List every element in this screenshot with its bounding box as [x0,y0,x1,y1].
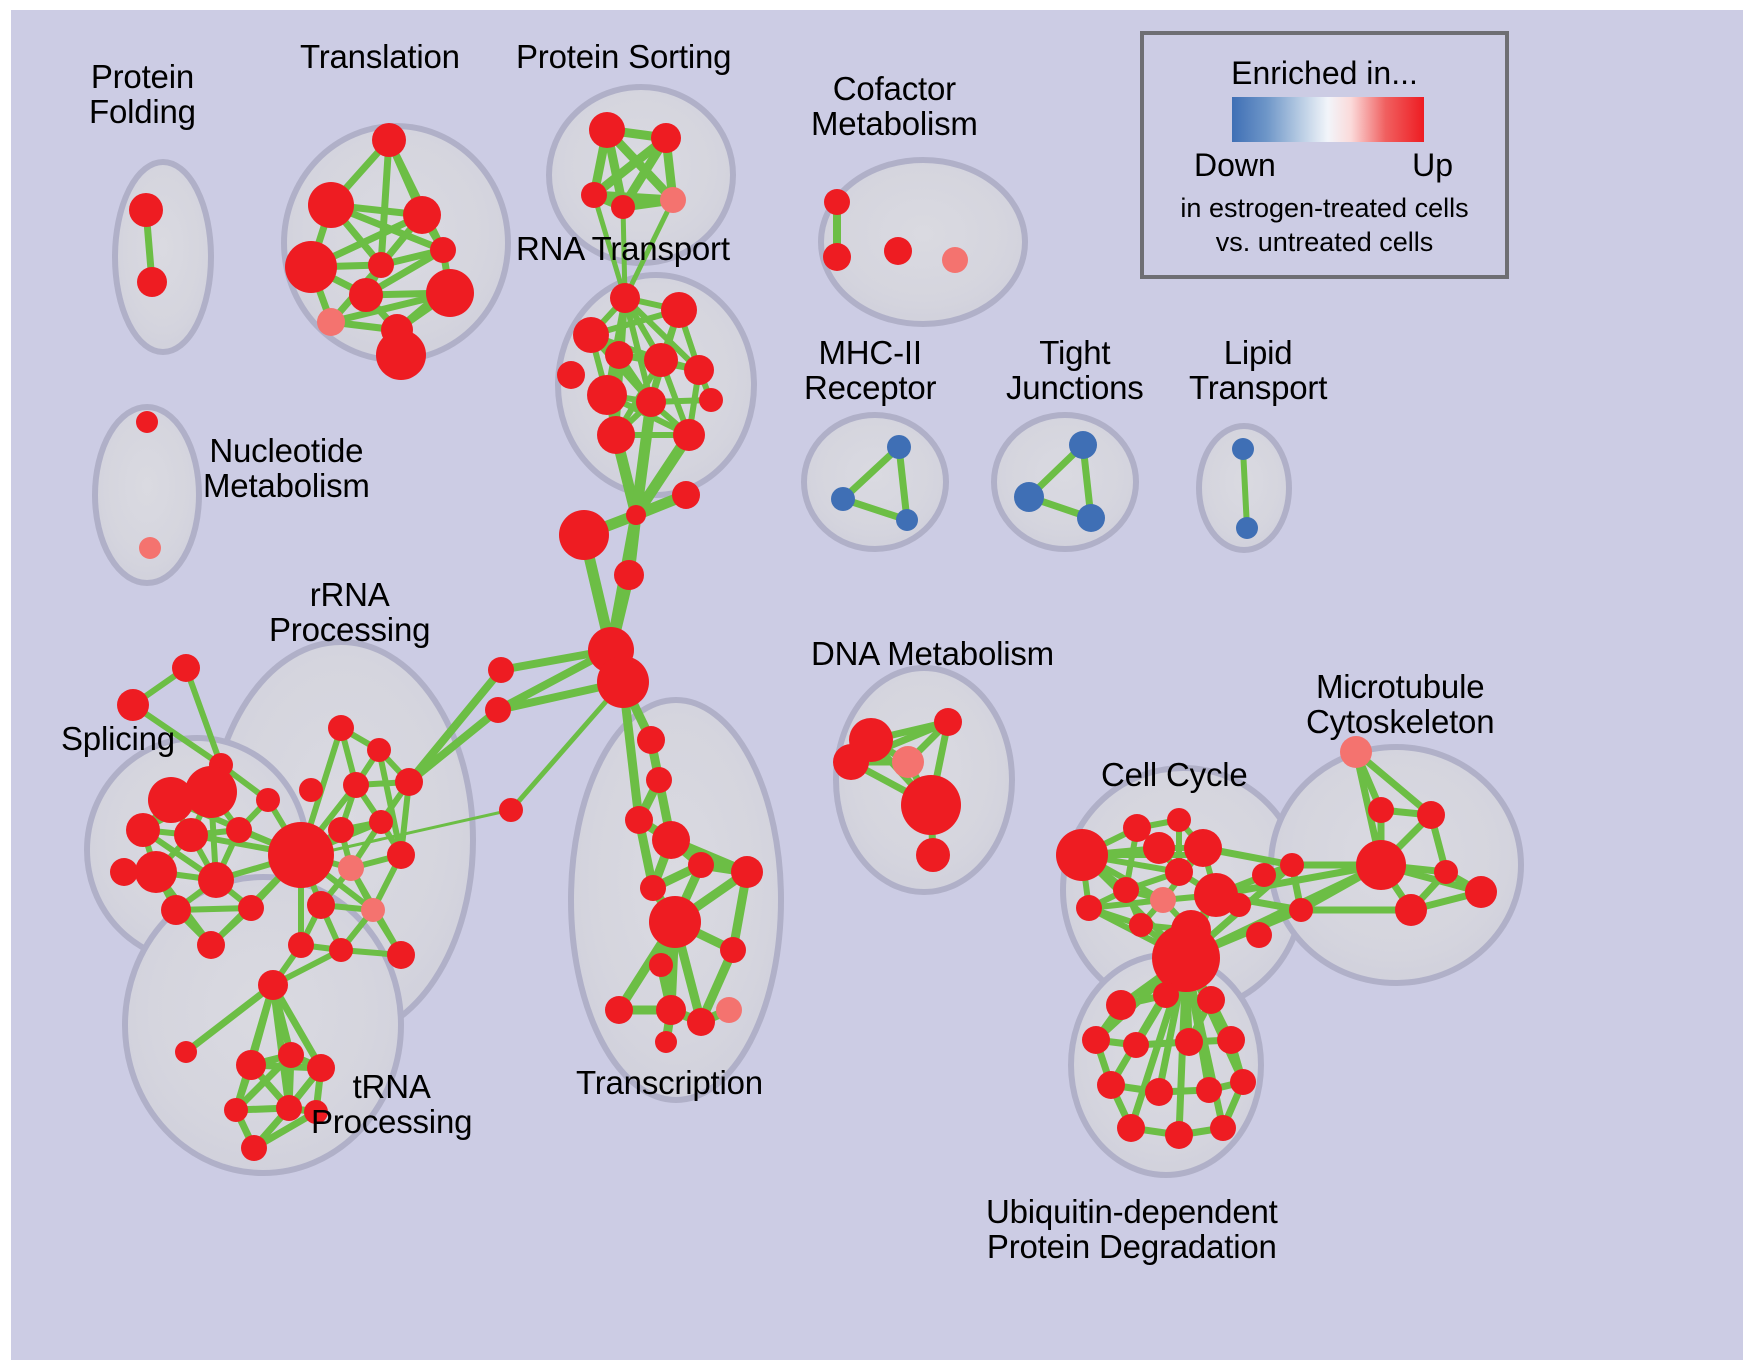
network-node[interactable] [716,997,742,1023]
network-node[interactable] [656,995,686,1025]
network-node[interactable] [198,862,234,898]
network-node[interactable] [1246,922,1272,948]
network-node[interactable] [644,343,678,377]
network-node[interactable] [376,330,426,380]
network-node[interactable] [299,778,323,802]
cluster-hull-mhc-ii-receptor [804,415,946,549]
network-node[interactable] [369,810,393,834]
network-node[interactable] [1106,990,1136,1020]
network-node[interactable] [174,818,208,852]
network-node[interactable] [361,898,385,922]
network-node[interactable] [328,715,354,741]
network-node[interactable] [129,193,163,227]
network-node[interactable] [687,1008,715,1036]
network-node[interactable] [328,817,354,843]
network-node[interactable] [387,941,415,969]
network-node[interactable] [823,243,851,271]
network-node[interactable] [403,196,441,234]
network-node[interactable] [1076,895,1102,921]
network-node[interactable] [649,896,701,948]
network-node[interactable] [896,509,918,531]
legend-subtitle-line2: vs. untreated cells [1144,227,1505,258]
legend-color-gradient-bar [1232,97,1424,142]
network-node[interactable] [1097,1071,1125,1099]
network-node[interactable] [651,123,681,153]
network-node[interactable] [614,560,644,590]
network-node[interactable] [587,375,627,415]
network-node[interactable] [1150,887,1176,913]
network-node[interactable] [278,1042,304,1068]
network-node[interactable] [1077,504,1105,532]
network-node[interactable] [688,852,714,878]
network-node[interactable] [1227,893,1251,917]
network-node[interactable] [1117,1114,1145,1142]
network-node[interactable] [824,189,850,215]
network-node[interactable] [307,891,335,919]
legend-title: Enriched in... [1144,55,1505,92]
network-node[interactable] [672,481,700,509]
network-node[interactable] [1465,876,1497,908]
network-node[interactable] [1232,438,1254,460]
network-node[interactable] [916,838,950,872]
network-node[interactable] [110,858,138,886]
network-node[interactable] [236,1050,266,1080]
network-node[interactable] [1368,797,1394,823]
network-node[interactable] [833,744,869,780]
network-node[interactable] [1014,482,1044,512]
network-node[interactable] [349,278,383,312]
legend-low-label: Down [1194,147,1276,184]
network-node[interactable] [197,931,225,959]
network-node[interactable] [573,317,609,353]
network-node[interactable] [1143,832,1175,864]
network-node[interactable] [343,772,369,798]
network-node[interactable] [640,875,666,901]
network-node[interactable] [1289,898,1313,922]
network-node[interactable] [1153,982,1179,1008]
network-node[interactable] [304,1100,328,1124]
network-node[interactable] [1145,1078,1173,1106]
network-node[interactable] [1165,1121,1193,1149]
network-node[interactable] [892,746,924,778]
network-node[interactable] [655,1031,677,1053]
cluster-hull-cofactor-metabolism [821,160,1025,324]
network-node[interactable] [589,112,625,148]
network-node[interactable] [1196,1077,1222,1103]
network-node[interactable] [137,267,167,297]
legend-subtitle-line1: in estrogen-treated cells [1144,193,1505,224]
network-node[interactable] [430,237,456,263]
network-node[interactable] [1129,913,1153,937]
network-node[interactable] [699,388,723,412]
network-node[interactable] [720,937,746,963]
network-node[interactable] [684,355,714,385]
network-node[interactable] [367,738,391,762]
network-node[interactable] [499,798,523,822]
network-node[interactable] [661,292,697,328]
network-node[interactable] [646,767,672,793]
network-node[interactable] [1123,1032,1149,1058]
network-node[interactable] [1197,986,1225,1014]
network-node[interactable] [368,252,394,278]
network-node[interactable] [268,822,334,888]
network-node[interactable] [673,419,705,451]
network-node[interactable] [636,387,666,417]
network-background: Protein Folding Translation Protein Sort… [11,10,1743,1360]
legend-box: Enriched in... Down Up in estrogen-treat… [1140,31,1509,279]
network-node[interactable] [625,806,653,834]
network-node[interactable] [136,411,158,433]
network-node[interactable] [185,766,237,818]
network-node[interactable] [1417,801,1445,829]
network-node[interactable] [258,970,288,1000]
network-node[interactable] [942,247,968,273]
network-node[interactable] [652,821,690,859]
figure-canvas: Protein Folding Translation Protein Sort… [0,0,1750,1360]
network-node[interactable] [426,269,474,317]
network-node[interactable] [1175,1028,1203,1056]
network-node[interactable] [1082,1026,1110,1054]
network-node[interactable] [139,537,161,559]
network-node[interactable] [887,435,911,459]
network-node[interactable] [172,654,200,682]
network-node[interactable] [597,656,649,708]
network-node[interactable] [1434,860,1458,884]
network-node[interactable] [1236,517,1258,539]
network-node[interactable] [884,237,912,265]
network-node[interactable] [395,768,423,796]
network-node[interactable] [485,697,511,723]
network-node[interactable] [329,938,353,962]
network-node[interactable] [241,1135,267,1161]
network-node[interactable] [1152,924,1220,992]
network-node[interactable] [224,1098,248,1122]
network-node[interactable] [831,487,855,511]
network-node[interactable] [238,895,264,921]
network-node[interactable] [276,1095,302,1121]
network-node[interactable] [488,657,514,683]
network-node[interactable] [637,726,665,754]
network-node[interactable] [161,895,191,925]
network-node[interactable] [1395,894,1427,926]
network-node[interactable] [175,1041,197,1063]
network-node[interactable] [1280,853,1304,877]
network-node[interactable] [256,788,280,812]
network-node[interactable] [605,996,633,1024]
network-node[interactable] [605,341,633,369]
network-node[interactable] [1356,840,1406,890]
cluster-hull-tight-junctions [994,415,1136,549]
network-node[interactable] [581,182,607,208]
network-node[interactable] [660,187,686,213]
network-node[interactable] [649,953,673,977]
legend-high-label: Up [1412,147,1453,184]
network-node[interactable] [308,182,354,228]
network-node[interactable] [1230,1069,1256,1095]
network-node[interactable] [226,817,252,843]
network-node[interactable] [934,708,962,736]
network-node[interactable] [626,505,646,525]
network-node[interactable] [372,123,406,157]
network-node[interactable] [559,510,609,560]
network-node[interactable] [901,775,961,835]
network-node[interactable] [1167,808,1191,832]
network-node[interactable] [731,856,763,888]
network-node[interactable] [1113,877,1139,903]
network-node[interactable] [288,932,314,958]
cluster-hull-protein-folding [115,162,211,352]
network-node[interactable] [1217,1026,1245,1054]
network-node[interactable] [285,241,337,293]
network-node[interactable] [611,195,635,219]
network-node[interactable] [1069,431,1097,459]
network-node[interactable] [1184,829,1222,867]
network-node[interactable] [387,841,415,869]
network-node[interactable] [1056,829,1108,881]
network-node[interactable] [338,855,364,881]
network-node[interactable] [610,283,640,313]
network-node[interactable] [1165,858,1193,886]
network-node[interactable] [135,851,177,893]
network-node[interactable] [117,689,149,721]
network-node[interactable] [317,308,345,336]
network-node[interactable] [307,1054,335,1082]
network-node[interactable] [1340,736,1372,768]
network-node[interactable] [126,813,160,847]
network-node[interactable] [557,361,585,389]
network-node[interactable] [1252,863,1276,887]
network-node[interactable] [597,416,635,454]
network-node[interactable] [1210,1115,1236,1141]
